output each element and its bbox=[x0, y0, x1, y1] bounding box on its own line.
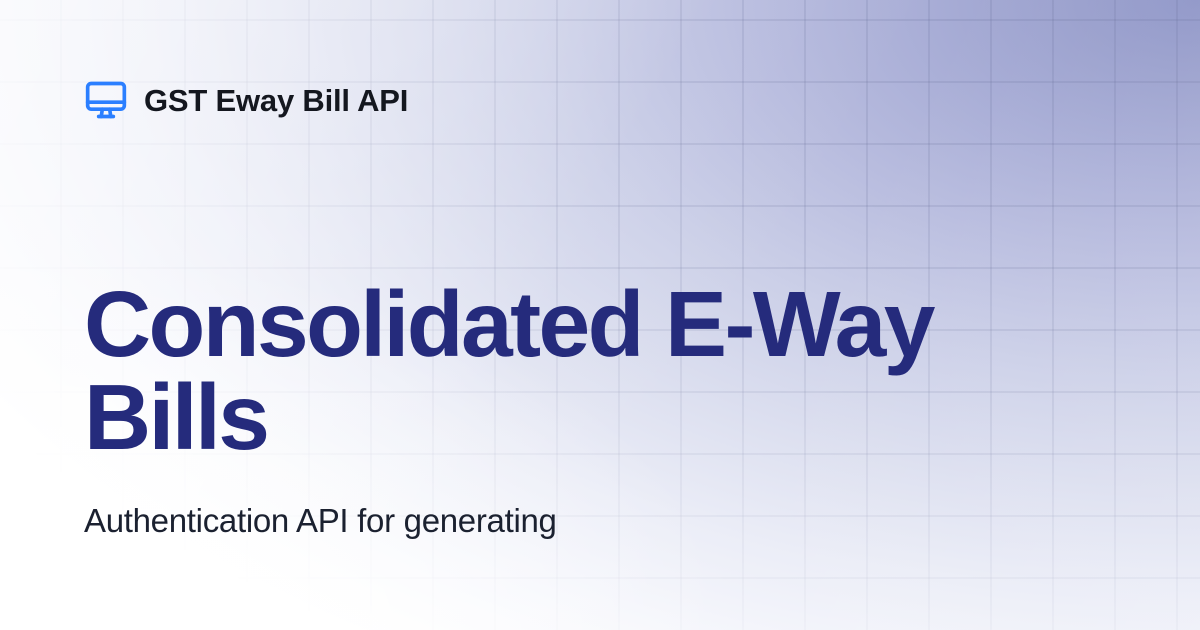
brand-lockup: GST Eway Bill API bbox=[84, 76, 1120, 124]
brand-name: GST Eway Bill API bbox=[144, 85, 408, 116]
monitor-icon bbox=[84, 78, 128, 122]
page-subtitle: Authentication API for generating bbox=[84, 500, 1044, 543]
page-title: Consolidated E-Way Bills bbox=[84, 278, 1094, 464]
og-card: GST Eway Bill API Consolidated E-Way Bil… bbox=[0, 0, 1200, 630]
card-content: GST Eway Bill API Consolidated E-Way Bil… bbox=[0, 0, 1200, 630]
